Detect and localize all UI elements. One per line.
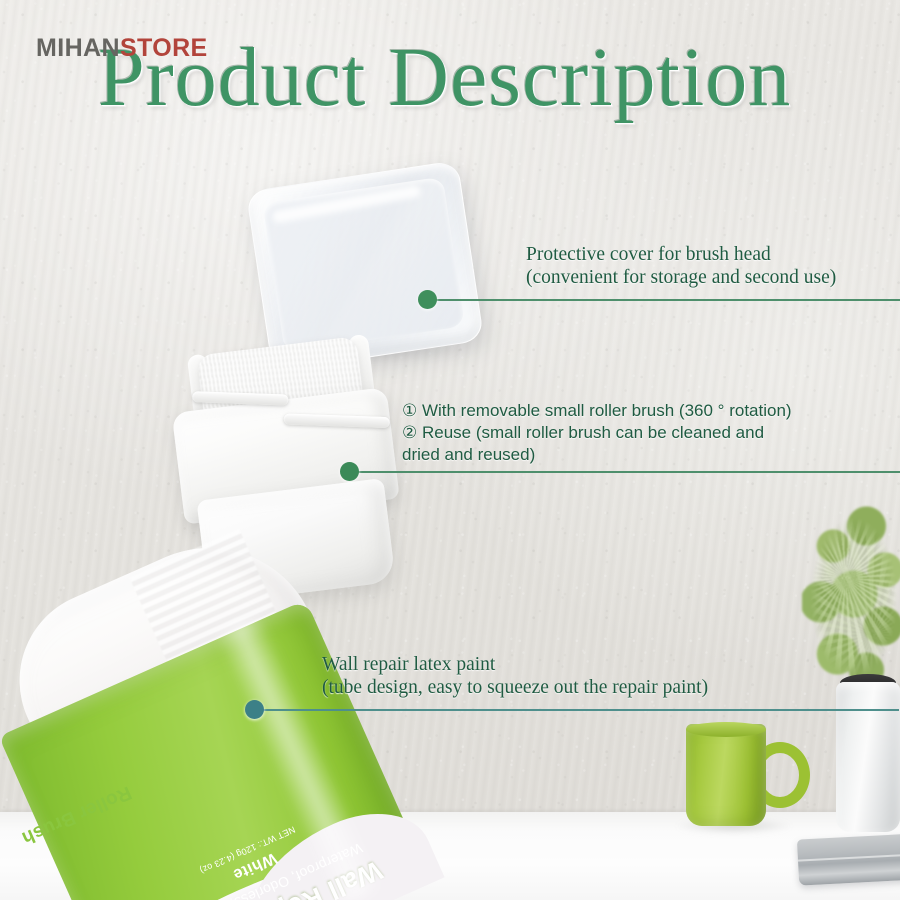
leader-dot [245,700,264,719]
product-description-image: Wall Repair Paint Waterproof, Odorless, … [0,0,900,900]
watermark: MIHANSTORE [36,36,208,61]
leader-line [259,709,899,711]
laptop [797,832,900,885]
annotation-text: Wall repair latex paint (tube design, ea… [322,653,708,699]
green-mug [686,724,790,828]
annotation-text: ① With removable small roller brush (360… [402,400,792,466]
potted-plant [806,502,900,832]
watermark-part-a: MIHAN [36,34,120,62]
plant-foliage-texture [802,502,900,702]
leader-line [432,299,900,301]
annotation-text: Protective cover for brush head (conveni… [526,243,836,289]
annotation-line-3: dried and reused) [402,444,792,466]
annotation-line-1: Protective cover for brush head [526,243,836,266]
mug-body [686,724,766,826]
annotation-line-2: (convenient for storage and second use) [526,266,836,289]
laptop-seam [798,852,900,861]
leader-line [354,471,900,473]
leader-dot [340,462,359,481]
mug-rim [686,722,766,737]
annotation-line-2: ② Reuse (small roller brush can be clean… [402,422,792,444]
annotation-line-1: Wall repair latex paint [322,653,708,676]
annotation-line-2: (tube design, easy to squeeze out the re… [322,676,708,699]
watermark-part-b: STORE [120,34,208,62]
plant-pot [836,682,900,832]
annotation-line-1: ① With removable small roller brush (360… [402,400,792,422]
leader-dot [418,290,437,309]
